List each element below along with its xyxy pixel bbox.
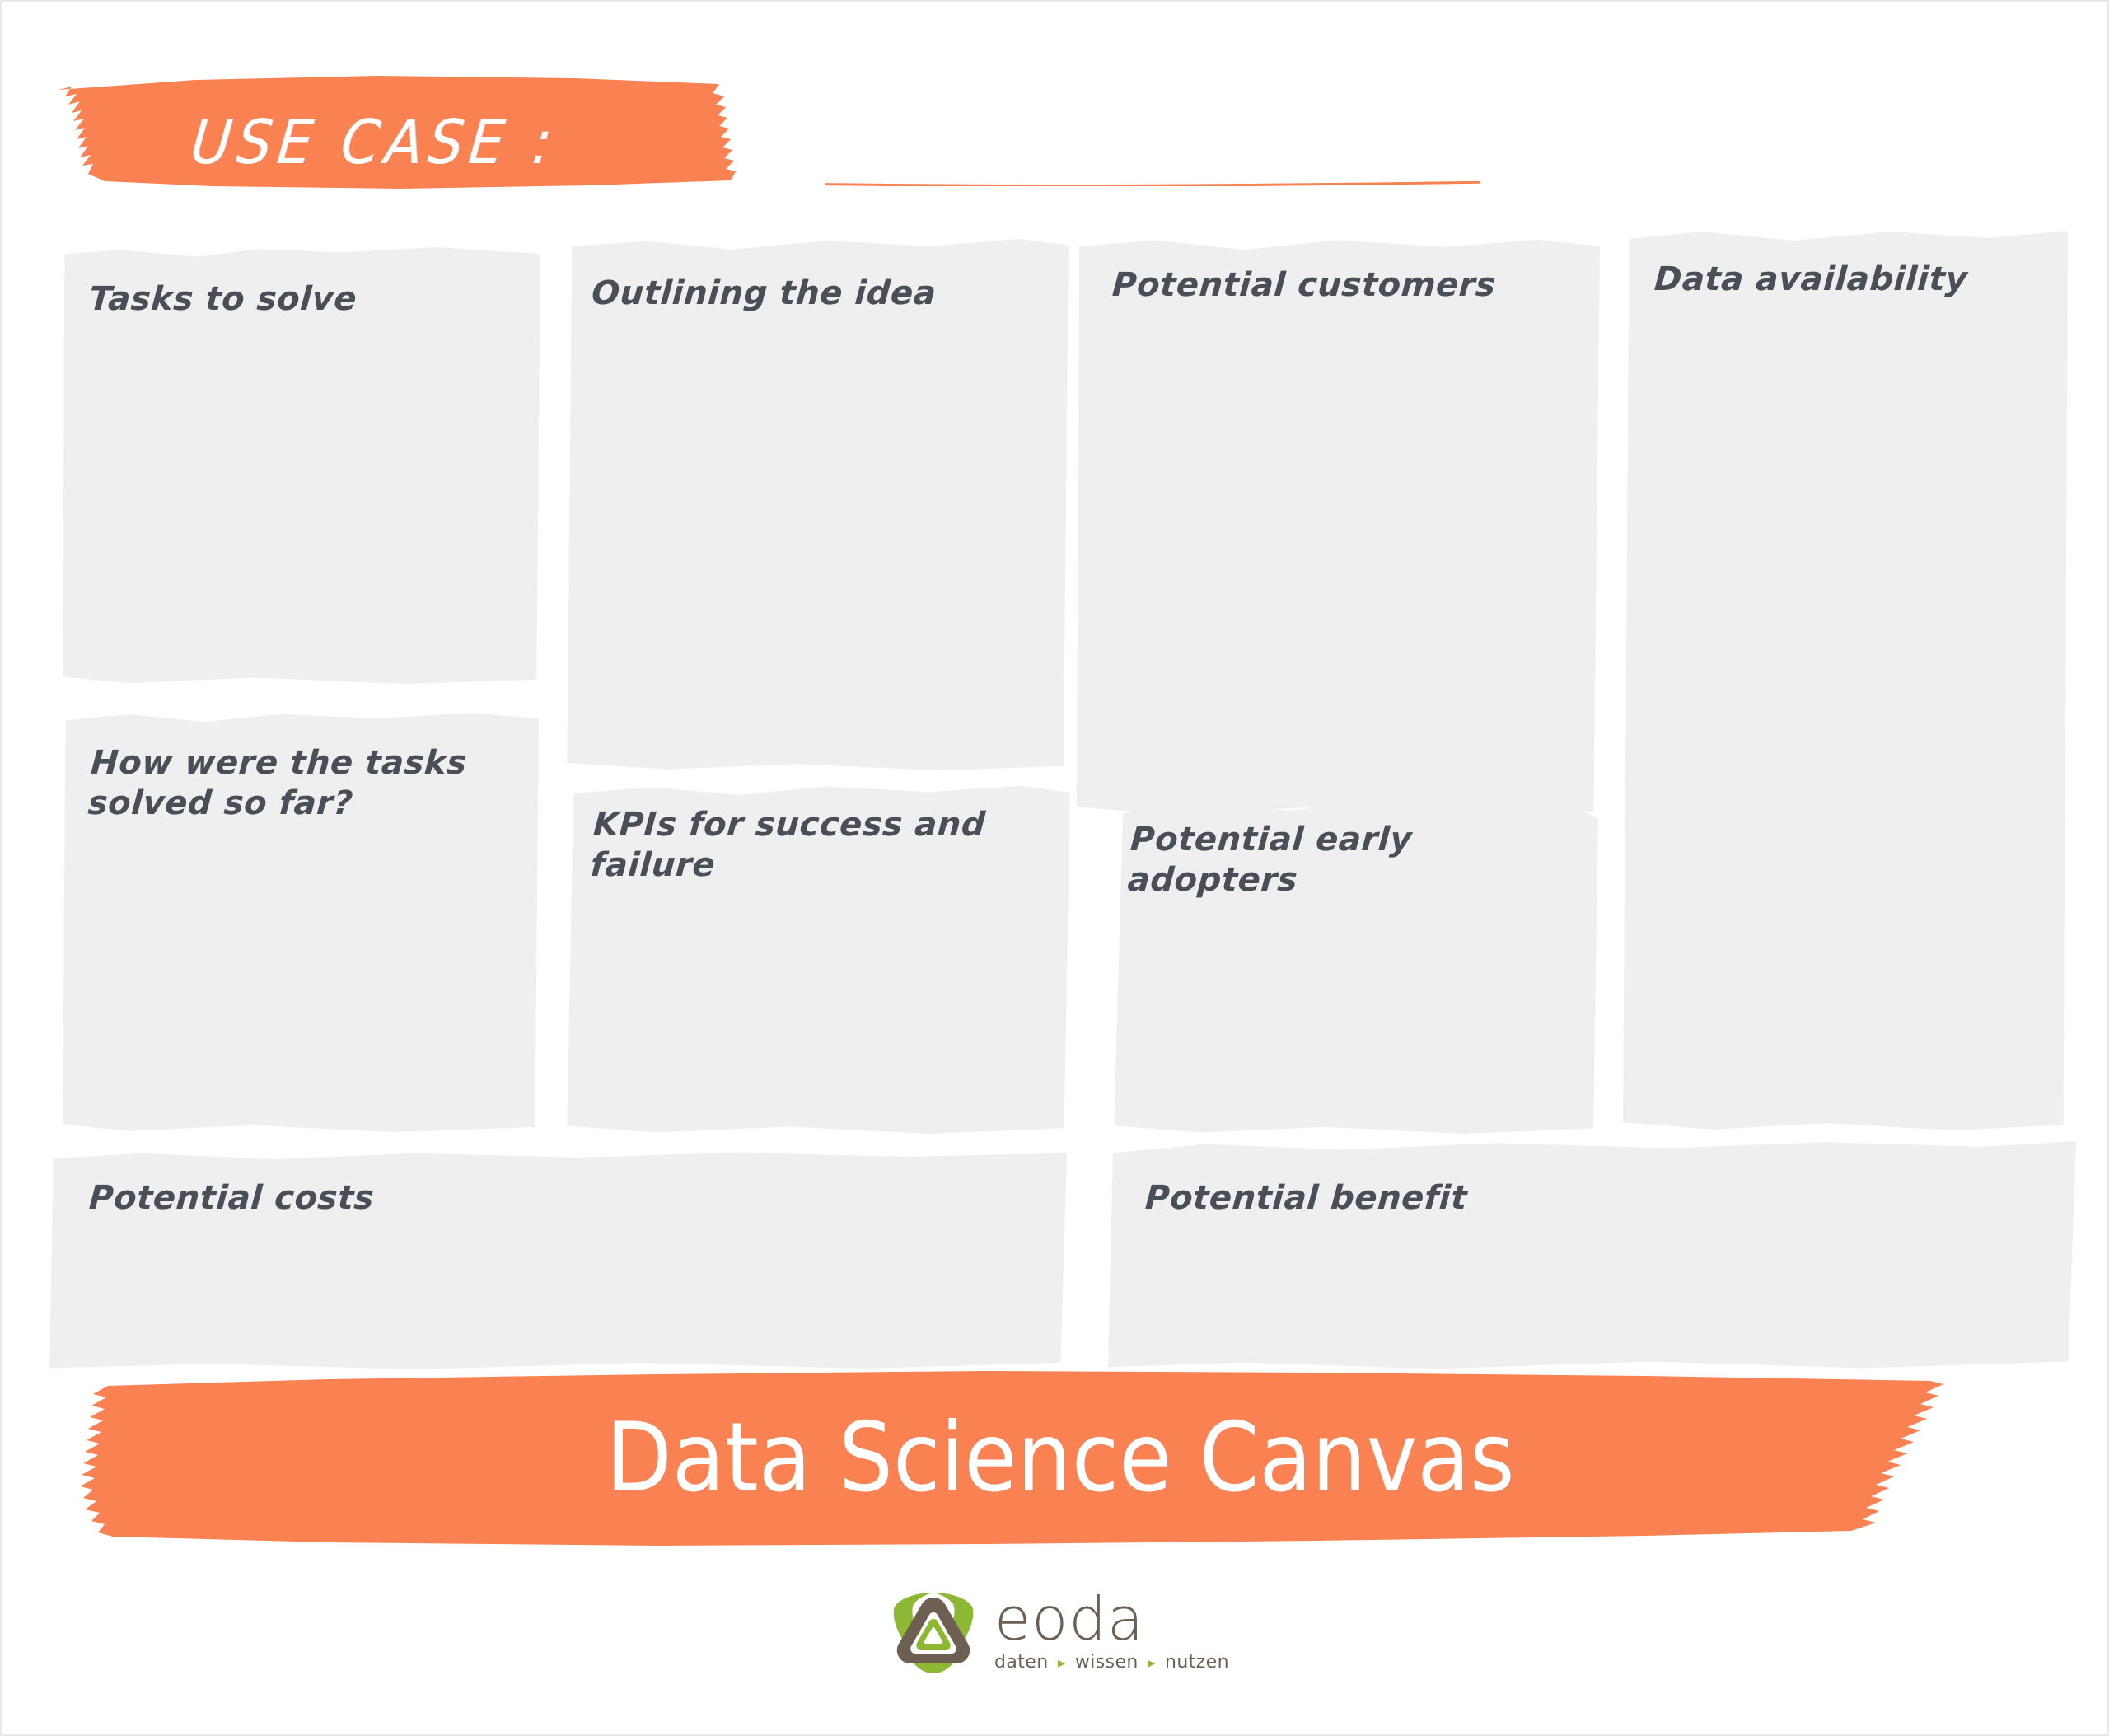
card-how-were-tasks-solved-label: How were the taskssolved so far? (87, 743, 521, 824)
card-potential-customers[interactable] (1077, 239, 1600, 816)
tagline-separator-icon: ▸ (1054, 1654, 1069, 1672)
card-potential-customers-label: Potential customers (1111, 265, 1592, 306)
card-outlining-the-idea-label: Outlining the idea (591, 274, 1054, 314)
label-line-2: failure (589, 846, 717, 884)
card-potential-early-adopters-label: Potential earlyadopters (1126, 820, 1577, 901)
canvas-title: Data Science Canvas (529, 1402, 1592, 1514)
tagline-part-nutzen: nutzen (1165, 1652, 1229, 1673)
tagline-separator-icon: ▸ (1144, 1654, 1158, 1672)
card-data-availability[interactable] (1623, 231, 2068, 1130)
label-line-2: solved so far? (87, 784, 354, 822)
eoda-wordmark: eoda (994, 1591, 1229, 1647)
card-tasks-to-solve-label: Tasks to solve (88, 279, 519, 320)
label-line-1: Potential early (1129, 821, 1414, 859)
eoda-shield-triangle-logo-icon (887, 1588, 980, 1680)
eoda-tagline: daten ▸ wissen ▸ nutzen (994, 1652, 1229, 1673)
eoda-logo-text: eoda daten ▸ wissen ▸ nutzen (994, 1588, 1229, 1673)
tagline-part-daten: daten (994, 1652, 1049, 1673)
card-outlining-the-idea[interactable] (566, 239, 1069, 770)
label-line-1: How were the tasks (90, 744, 469, 782)
label-line-2: adopters (1126, 861, 1299, 899)
data-science-canvas-page: USE CASE : Tasks to solve Outlining the … (0, 0, 2109, 1736)
eoda-logo[interactable]: eoda daten ▸ wissen ▸ nutzen (887, 1588, 1233, 1691)
tagline-part-wissen: wissen (1075, 1652, 1139, 1673)
use-case-label: USE CASE : (187, 107, 560, 178)
card-kpis-success-failure-label: KPIs for success andfailure (589, 805, 1056, 886)
card-potential-benefit-label: Potential benefit (1144, 1178, 2012, 1219)
card-data-availability-label: Data availability (1653, 260, 2060, 300)
card-potential-costs-label: Potential costs (88, 1178, 997, 1219)
use-case-blank-line[interactable] (825, 181, 1480, 186)
label-line-1: KPIs for success and (592, 806, 987, 844)
card-potential-benefit[interactable] (1108, 1140, 2076, 1369)
